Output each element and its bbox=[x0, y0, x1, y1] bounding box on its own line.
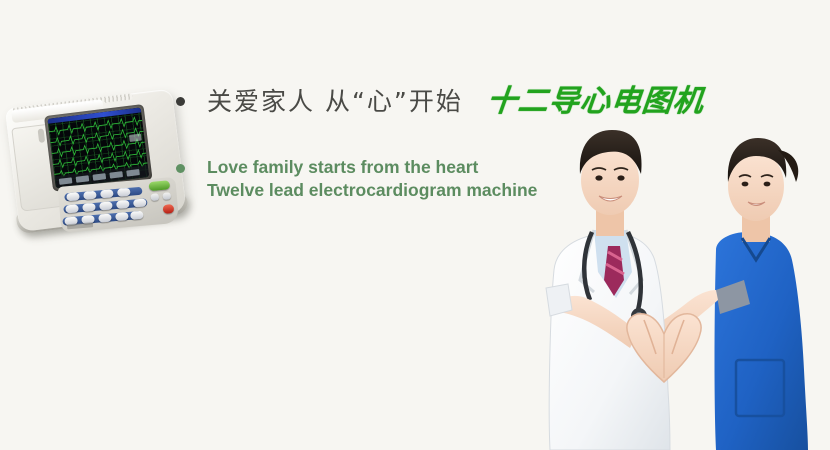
subheadline-line-2: Twelve lead electrocardiogram machine bbox=[207, 179, 537, 202]
nurse-eye-left bbox=[742, 182, 749, 187]
subheadline-english: Love family starts from the heart Twelve… bbox=[185, 156, 537, 202]
subheadline-line-1: Love family starts from the heart bbox=[207, 156, 537, 179]
nurse-scrub-top bbox=[715, 232, 809, 450]
device-screen-bezel bbox=[44, 104, 153, 192]
bullet-dot-icon bbox=[176, 164, 185, 173]
product-name-chinese: 十二导心电图机 bbox=[485, 84, 706, 120]
softkey-2 bbox=[76, 175, 90, 183]
softkey-3 bbox=[93, 173, 107, 181]
medical-staff-photo bbox=[520, 120, 830, 450]
doctor-coat-cuff bbox=[546, 284, 572, 316]
start-button bbox=[149, 180, 171, 191]
device-screen bbox=[47, 107, 149, 188]
screen-brand-logo bbox=[129, 134, 142, 142]
doctor-eye-right bbox=[617, 175, 624, 180]
device-keypad bbox=[58, 177, 180, 233]
stop-button bbox=[163, 204, 175, 214]
promo-banner: 关爱家人 从“心”开始 十二导心电图机 Love family starts f… bbox=[0, 0, 830, 450]
nurse-eye-right bbox=[764, 182, 771, 187]
headline-chinese: 关爱家人 从“心”开始 bbox=[207, 84, 463, 120]
nav-key-right bbox=[163, 192, 172, 200]
softkey-1 bbox=[59, 177, 73, 185]
doctor-figure bbox=[546, 130, 670, 450]
nav-key-up bbox=[151, 193, 160, 201]
headline-row: 关爱家人 从“心”开始 十二导心电图机 bbox=[176, 84, 696, 120]
ecg-machine-image bbox=[0, 82, 196, 243]
softkey-5 bbox=[126, 169, 140, 177]
softkey-4 bbox=[109, 171, 123, 179]
doctor-and-nurse-illustration bbox=[520, 120, 830, 450]
device-brand-plate bbox=[67, 222, 93, 229]
doctor-eye-left bbox=[595, 175, 602, 180]
bullet-dot-icon bbox=[176, 97, 185, 106]
keypad-key bbox=[130, 211, 144, 220]
